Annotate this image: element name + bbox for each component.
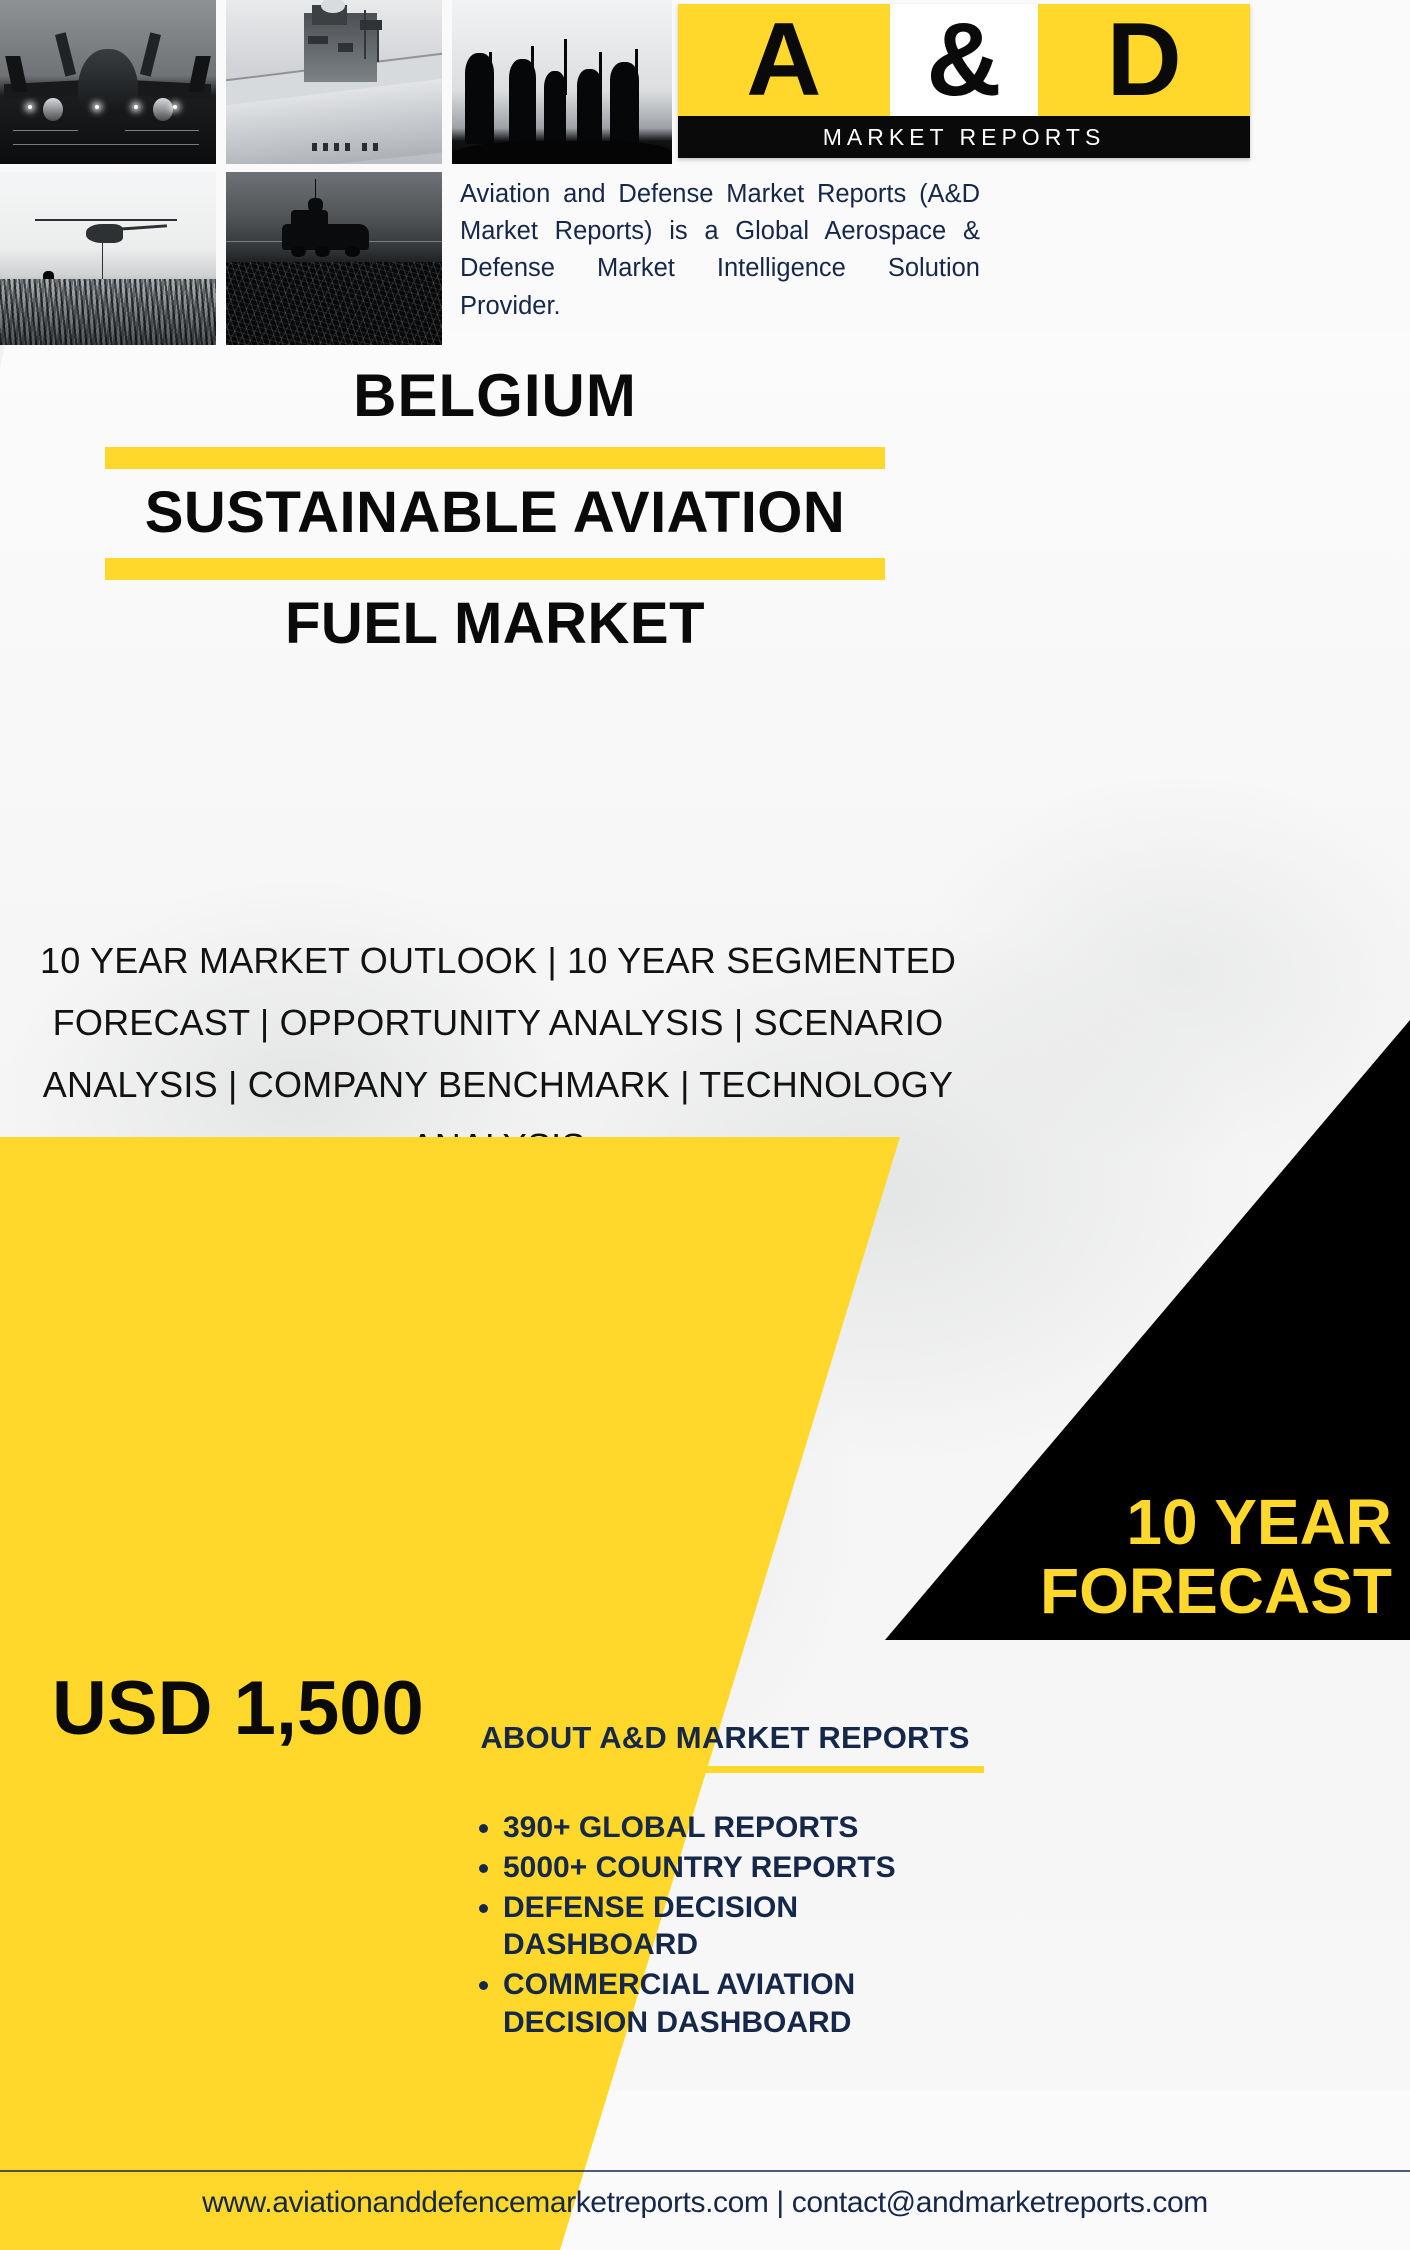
logo-letter-d: D: [1038, 4, 1250, 116]
report-title-line-1: SUSTAINABLE AVIATION: [0, 483, 990, 544]
report-country: BELGIUM: [0, 364, 990, 433]
footer-contact[interactable]: www.aviationanddefencemarketreports.com …: [0, 2186, 1410, 2220]
report-title-block: BELGIUM SUSTAINABLE AVIATION FUEL MARKET: [0, 364, 990, 655]
forecast-line-1: 10 YEAR: [860, 1488, 1392, 1557]
list-item: COMMERCIAL AVIATION DECISION DASHBOARD: [503, 1966, 995, 2042]
ad-market-reports-logo: A & D MARKET REPORTS: [678, 4, 1250, 158]
price-value: USD 1,500: [52, 1665, 424, 1752]
logo-subtitle-text: MARKET REPORTS: [823, 124, 1106, 151]
list-item: DEFENSE DECISION DASHBOARD: [503, 1889, 995, 1965]
list-item: 5000+ COUNTRY REPORTS: [503, 1849, 995, 1887]
photo-helicopter-over-field: [0, 172, 216, 345]
footer-divider: [0, 2170, 1410, 2172]
photo-fighter-jet-on-carrier-deck: [0, 0, 216, 164]
about-bullet-list: 390+ GLOBAL REPORTS 5000+ COUNTRY REPORT…: [503, 1809, 995, 2042]
logo-subtitle-bar: MARKET REPORTS: [678, 116, 1250, 158]
logo-letters: A & D: [678, 4, 1250, 116]
title-rule-top: [105, 447, 885, 469]
report-title-line-2: FUEL MARKET: [0, 594, 990, 655]
photo-aircraft-carrier: [226, 0, 442, 164]
photo-armored-vehicle-at-dusk: [226, 172, 442, 345]
title-rule-bottom: [105, 558, 885, 580]
photo-soldiers-silhouette: [452, 0, 672, 164]
forecast-line-2: FORECAST: [860, 1557, 1392, 1626]
poster-canvas: A & D MARKET REPORTS Aviation and Defens…: [0, 0, 1410, 2250]
logo-ampersand: &: [890, 4, 1039, 116]
list-item: 390+ GLOBAL REPORTS: [503, 1809, 995, 1847]
about-panel: ABOUT A&D MARKET REPORTS 390+ GLOBAL REP…: [455, 1720, 995, 2044]
company-intro-paragraph: Aviation and Defense Market Reports (A&D…: [460, 176, 980, 325]
about-heading: ABOUT A&D MARKET REPORTS: [455, 1720, 995, 1756]
about-underline: [469, 1766, 984, 1773]
forecast-badge: 10 YEAR FORECAST: [860, 1488, 1400, 1626]
logo-letter-a: A: [678, 4, 890, 116]
